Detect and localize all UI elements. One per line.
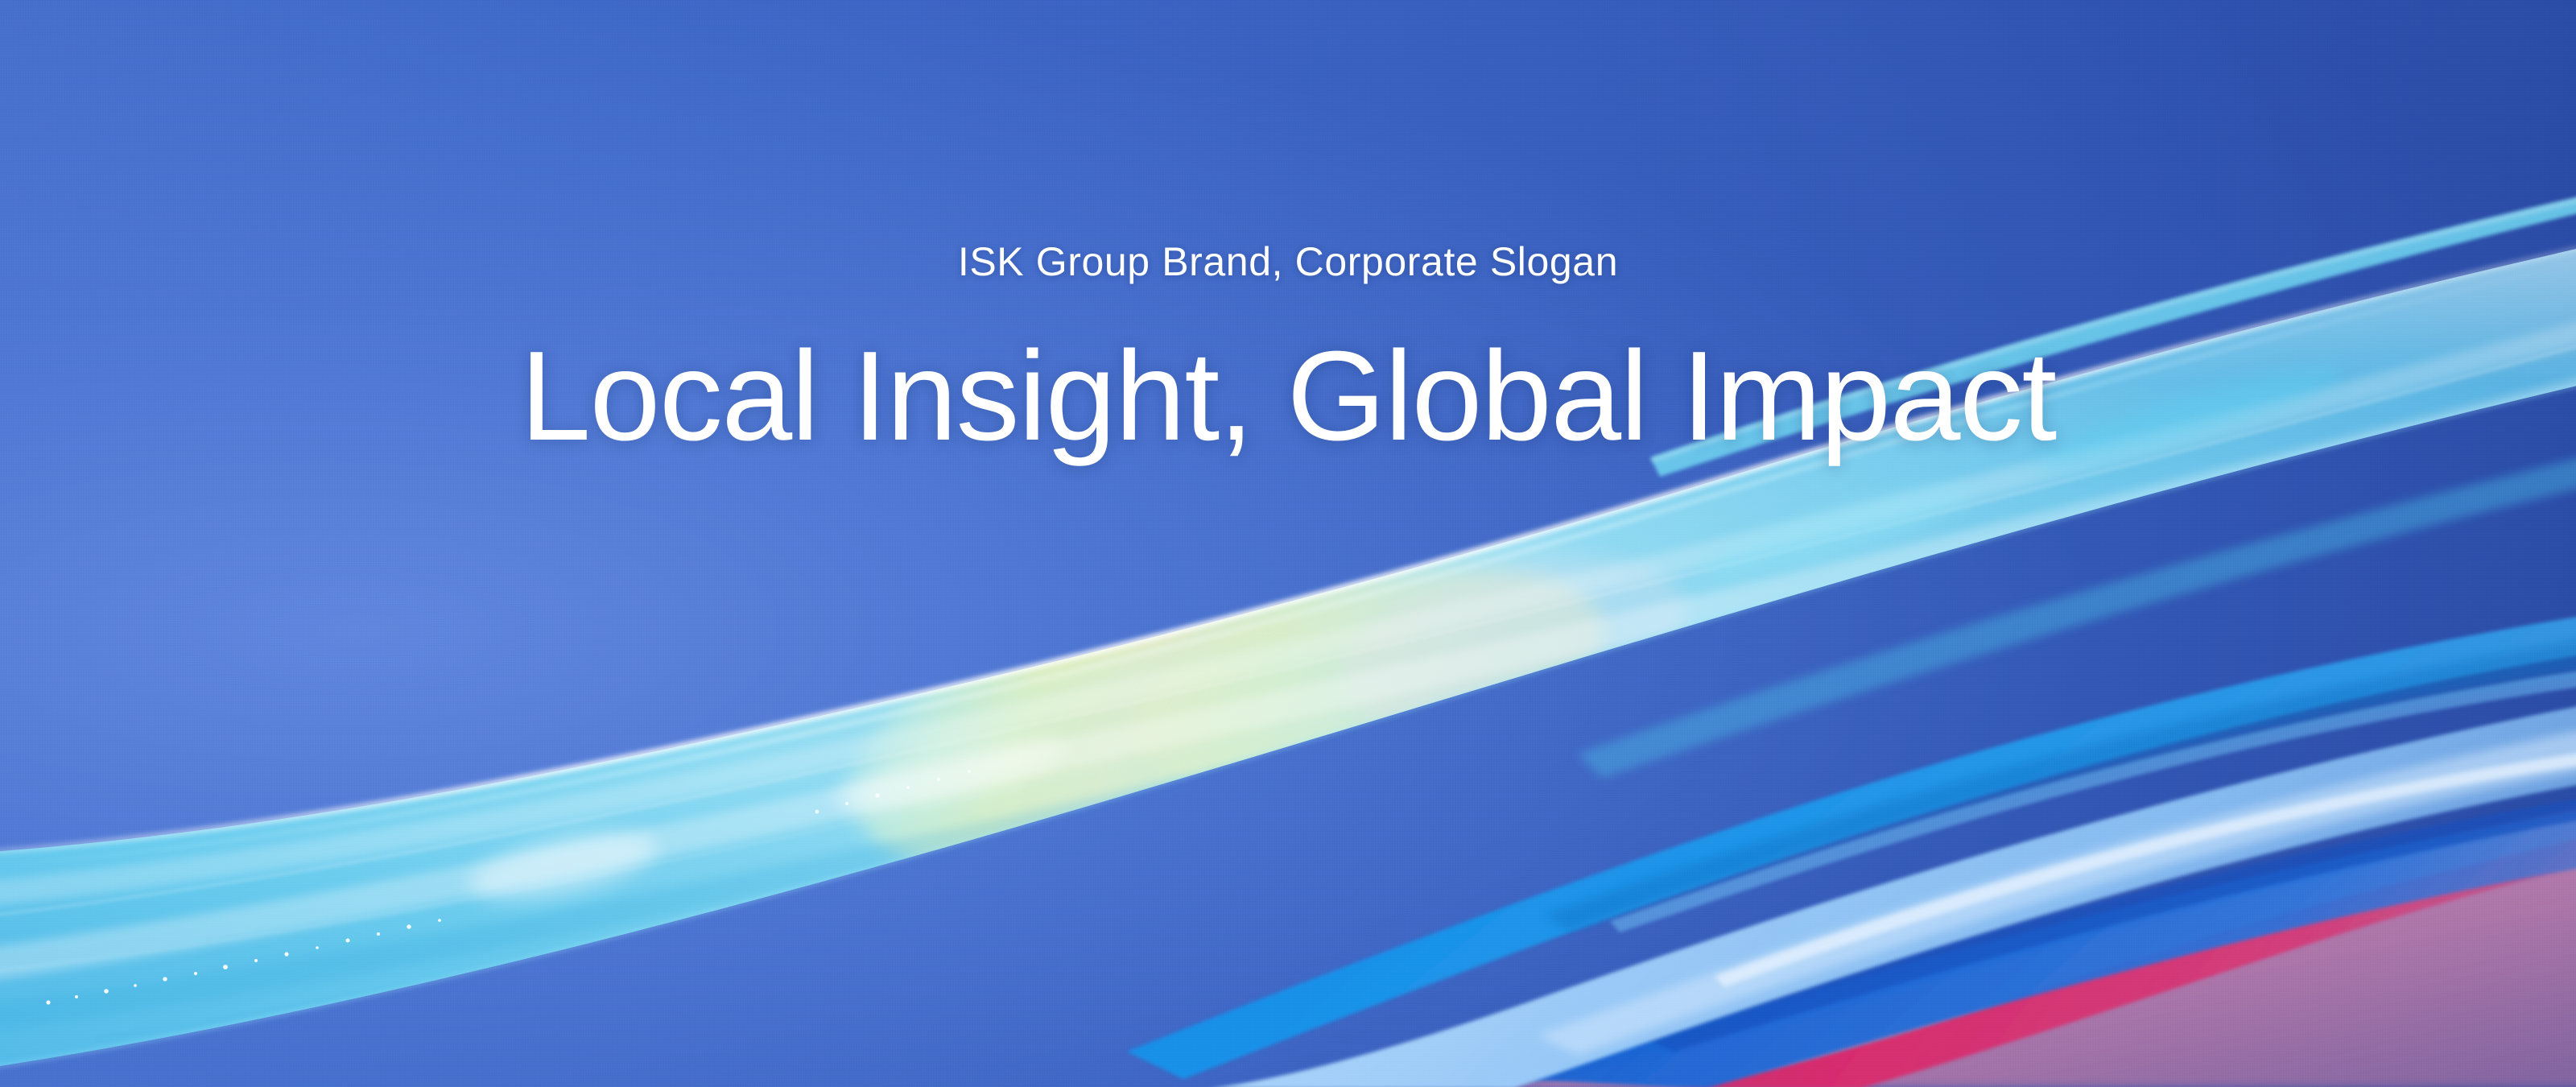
hero-banner: ISK Group Brand, Corporate Slogan Local … (0, 0, 2576, 1087)
film-grain-overlay (0, 0, 2576, 1087)
